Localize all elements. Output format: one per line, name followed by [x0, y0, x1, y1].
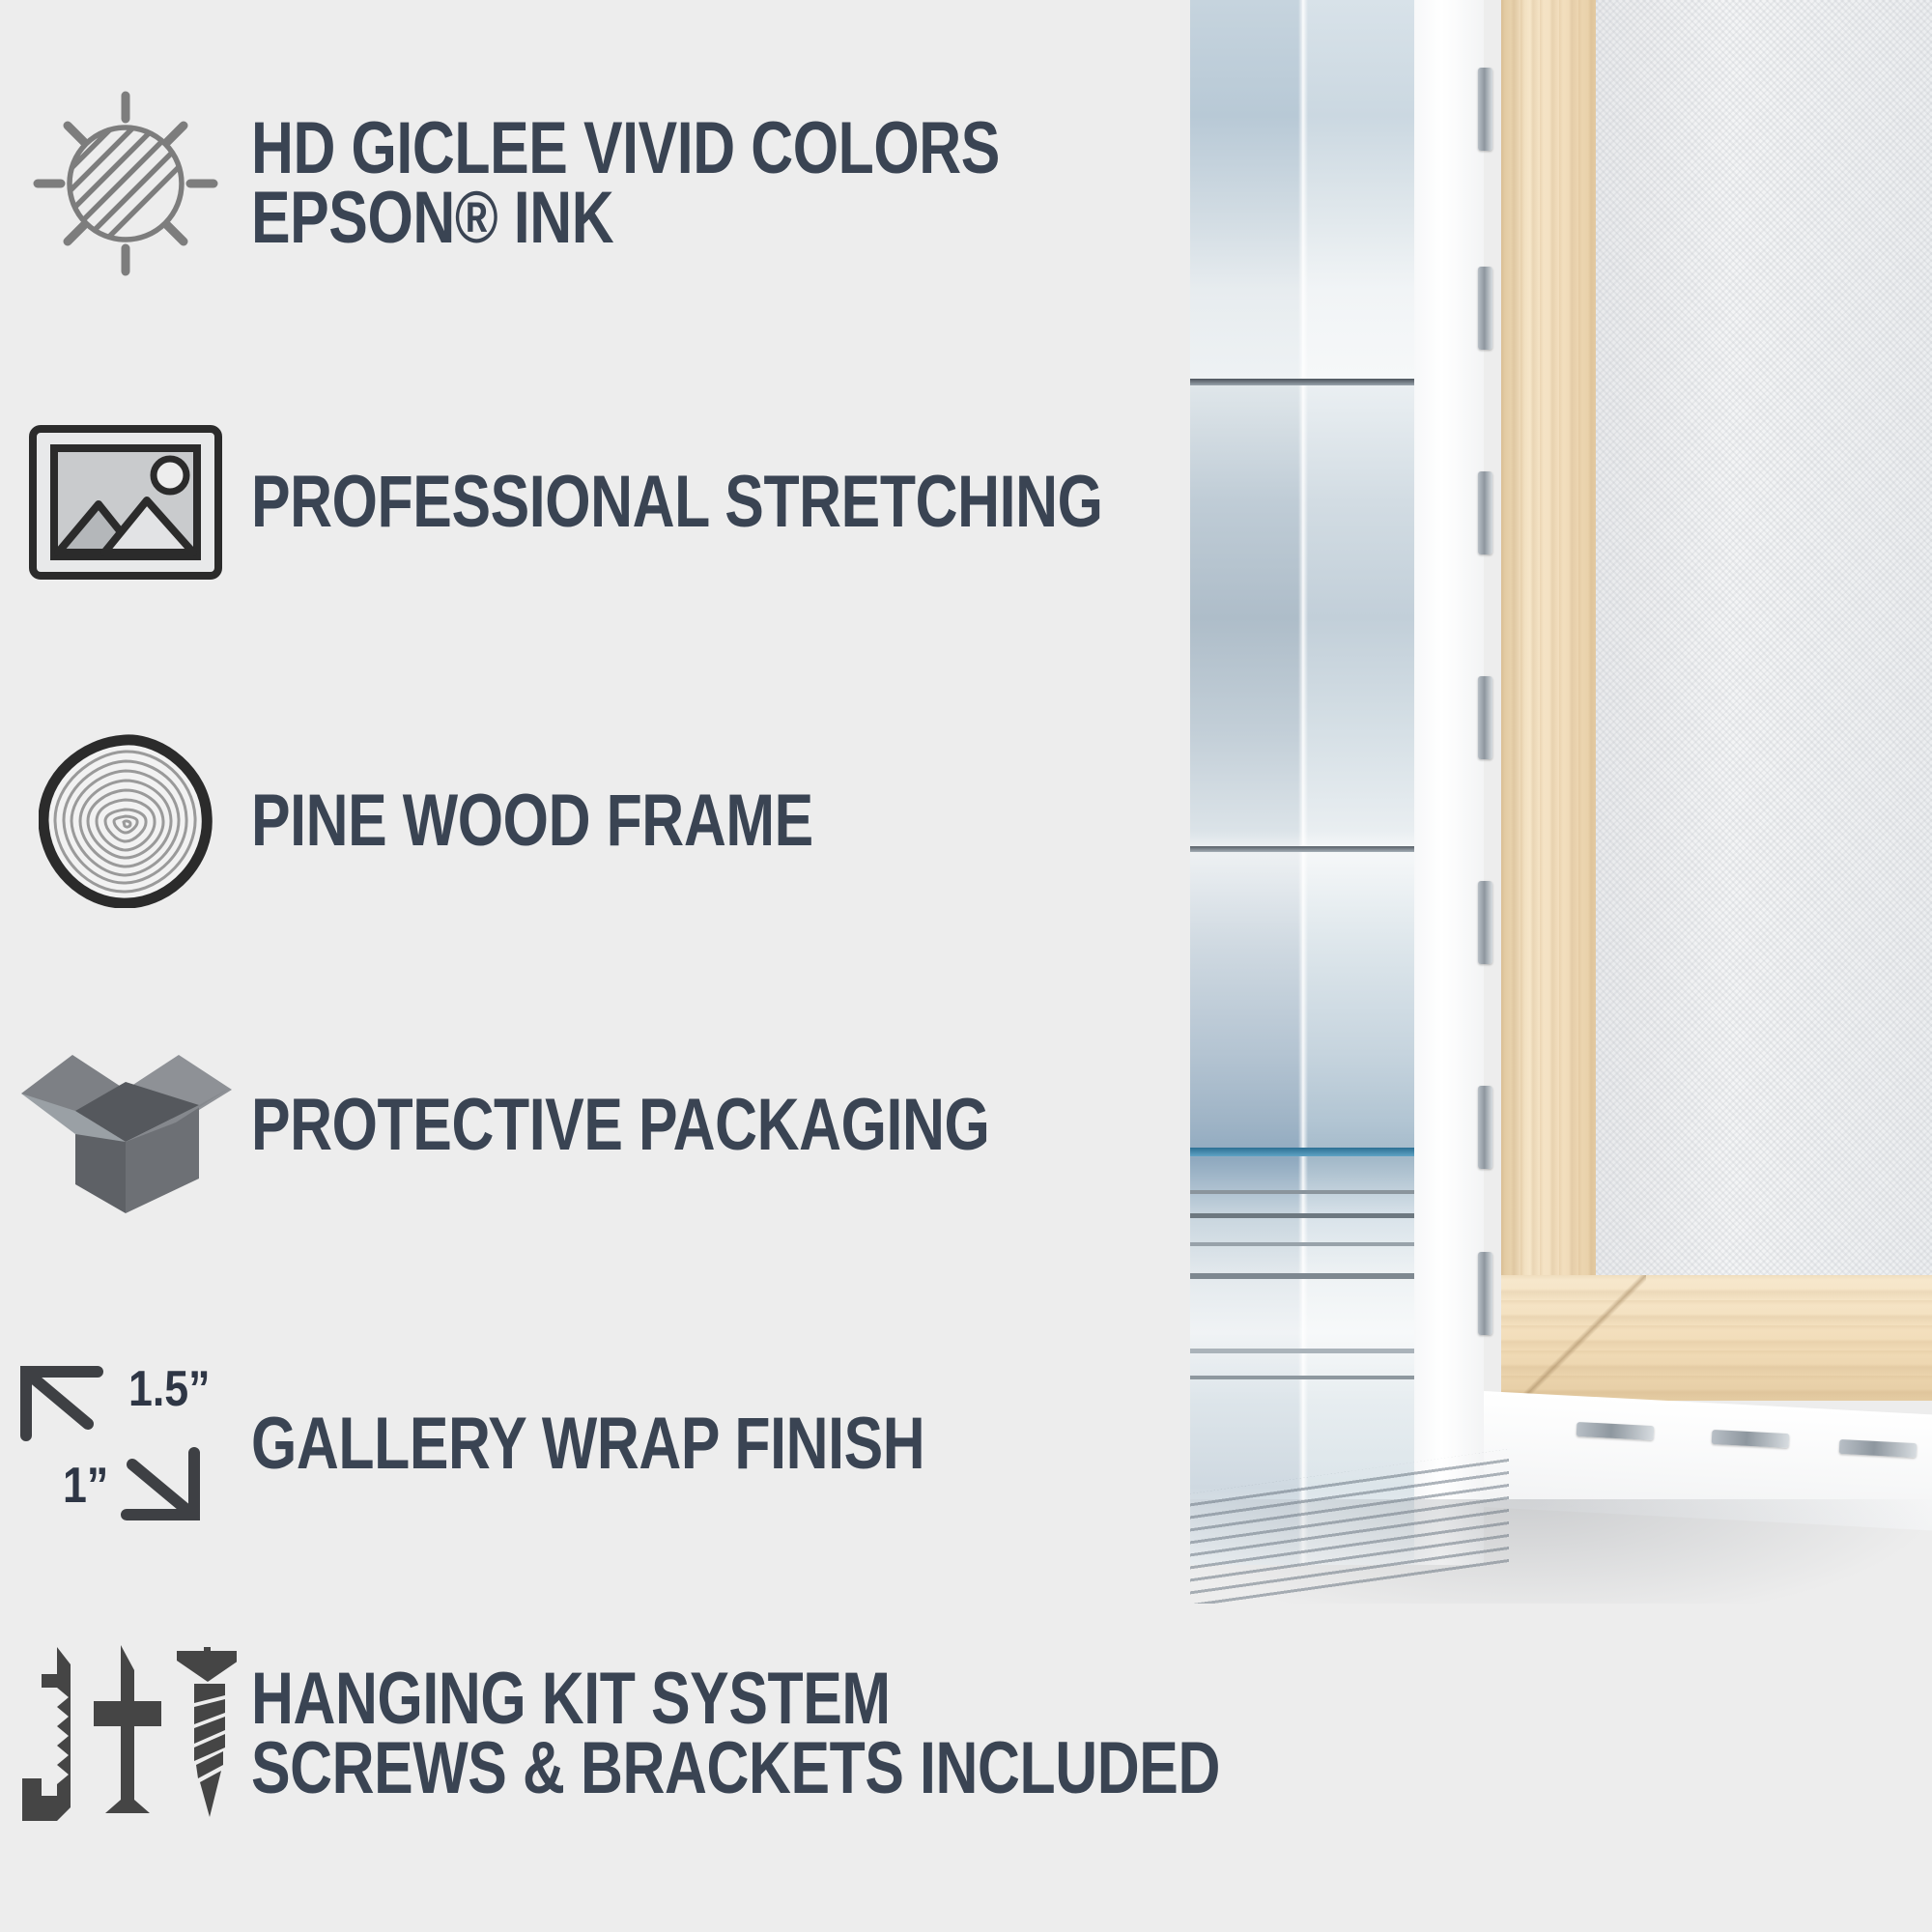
artwork-seam	[1190, 1376, 1414, 1379]
feature-label-line: HANGING KIT SYSTEM	[251, 1664, 1220, 1734]
wrap-depth-arrows-icon: 1.5” 1”	[5, 1352, 246, 1536]
staple	[1478, 1086, 1492, 1169]
staple	[1478, 881, 1492, 964]
feature-row-hd-giclee: HD GICLEE VIVID COLORS EPSON® INK	[0, 68, 1198, 299]
tree-rings-icon-slot	[0, 710, 251, 932]
artwork-seam	[1190, 1242, 1414, 1246]
feature-row-protective-packaging: PROTECTIVE PACKAGING	[0, 1005, 1198, 1246]
canvas-weave-back	[1596, 0, 1932, 1381]
artwork-seam	[1190, 379, 1414, 385]
staple	[1478, 1252, 1492, 1335]
photo-drop-shadow	[1190, 1499, 1932, 1604]
hanging-hardware-icon	[14, 1637, 237, 1831]
feature-label-line: PROTECTIVE PACKAGING	[251, 1091, 989, 1160]
feature-label-hd-giclee: HD GICLEE VIVID COLORS EPSON® INK	[251, 114, 1000, 253]
artwork-seam	[1190, 1273, 1414, 1279]
feature-label-line: PINE WOOD FRAME	[251, 786, 813, 856]
canvas-back-gutter	[1414, 0, 1484, 1565]
staple	[1478, 68, 1492, 151]
feature-label-line: GALLERY WRAP FINISH	[251, 1409, 924, 1479]
feature-row-hanging-kit-system: HANGING KIT SYSTEM SCREWS & BRACKETS INC…	[0, 1604, 1198, 1864]
wrap-edge-face-left	[1190, 0, 1302, 1565]
hanging-hardware-icon-slot	[0, 1623, 251, 1845]
feature-label-line: PROFESSIONAL STRETCHING	[251, 468, 1102, 537]
feature-row-pine-wood-frame: PINE WOOD FRAME	[0, 705, 1198, 937]
wrap-edge-crease	[1298, 0, 1308, 1565]
open-box-icon-slot	[0, 1014, 251, 1236]
feature-label-line: EPSON® INK	[251, 184, 1000, 253]
artwork-seam	[1190, 1349, 1414, 1353]
infographic-canvas: HD GICLEE VIVID COLORS EPSON® INK PROFES…	[0, 0, 1932, 1932]
printed-wrap-edge	[1190, 0, 1414, 1565]
wrap-edge-face-right	[1302, 0, 1414, 1565]
picture-frame-icon	[29, 425, 222, 580]
feature-label-protective-packaging: PROTECTIVE PACKAGING	[251, 1091, 989, 1160]
feature-label-professional-stretching: PROFESSIONAL STRETCHING	[251, 468, 1102, 537]
artwork-seam	[1190, 1190, 1414, 1194]
tree-rings-icon	[39, 734, 213, 908]
feature-label-hanging-kit-system: HANGING KIT SYSTEM SCREWS & BRACKETS INC…	[251, 1664, 1220, 1804]
picture-frame-icon-slot	[0, 391, 251, 613]
artwork-seam	[1190, 846, 1414, 852]
wrap-depth-small-label: 1”	[63, 1457, 108, 1515]
pine-stretcher-bar-vertical	[1501, 0, 1598, 1430]
feature-label-gallery-wrap-finish: GALLERY WRAP FINISH	[251, 1409, 924, 1479]
sun-icon	[24, 82, 227, 285]
stretched-canvas-back-corner-photo	[1190, 0, 1932, 1604]
wrap-depth-icon-slot: 1.5” 1”	[0, 1333, 251, 1555]
feature-label-line: SCREWS & BRACKETS INCLUDED	[251, 1734, 1220, 1804]
staple	[1478, 676, 1492, 759]
feature-label-line: HD GICLEE VIVID COLORS	[251, 114, 1000, 184]
artwork-seam	[1190, 1213, 1414, 1218]
wrap-depth-large-label: 1.5”	[128, 1360, 211, 1418]
open-box-icon	[19, 1034, 232, 1217]
sun-icon-slot	[0, 72, 251, 295]
staple	[1478, 471, 1492, 554]
feature-list: HD GICLEE VIVID COLORS EPSON® INK PROFES…	[0, 0, 1198, 1932]
artwork-seam	[1190, 1148, 1414, 1156]
feature-row-professional-stretching: PROFESSIONAL STRETCHING	[0, 386, 1198, 618]
feature-label-pine-wood-frame: PINE WOOD FRAME	[251, 786, 813, 856]
feature-row-gallery-wrap-finish: 1.5” 1” GALLERY WRAP FINISH	[0, 1323, 1198, 1565]
staple	[1478, 267, 1492, 350]
